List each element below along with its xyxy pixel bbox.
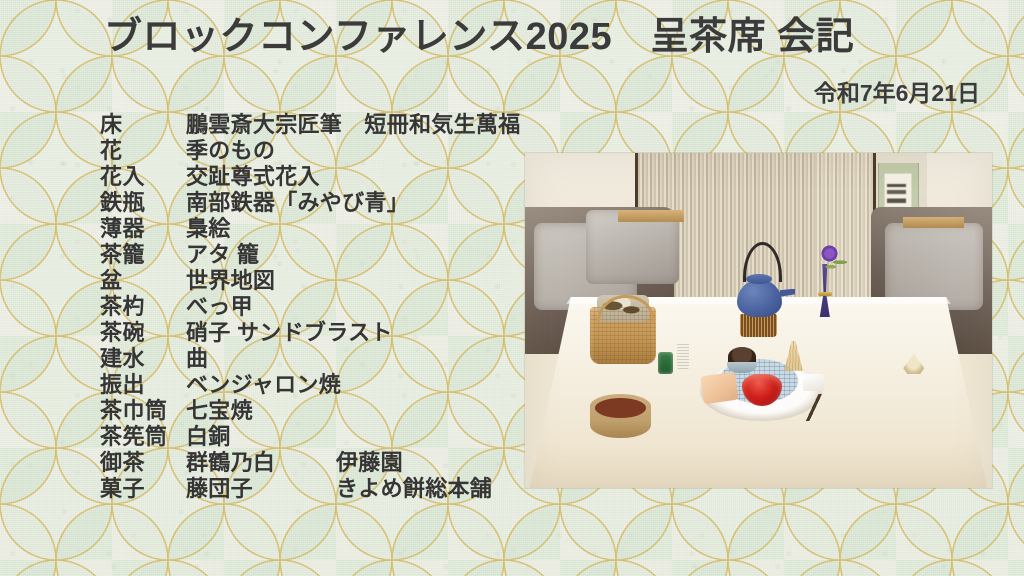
kaiki-item: ベンジャロン焼: [186, 372, 341, 398]
tea-setup-photo: [525, 153, 992, 488]
kaiki-label: 薄器: [100, 216, 186, 242]
photo-white-sweet: [803, 374, 824, 391]
kaiki-row-toko: 床 鵬雲斎大宗匠筆 短冊 和気生萬福: [100, 112, 540, 138]
kaiki-item: 白銅: [186, 424, 336, 450]
page-title: ブロックコンファレンス2025 呈茶席 会記: [104, 16, 854, 59]
photo-furidashi-container: [658, 352, 673, 374]
kaiki-item: 群鶴乃白: [186, 450, 336, 476]
photo-shelf-right: [903, 217, 964, 229]
kaiki-row-chakintsutsu: 茶巾筒 七宝焼: [100, 398, 540, 424]
kaiki-list: 床 鵬雲斎大宗匠筆 短冊 和気生萬福 花 季のもの 花入 交趾尊式花入 鉄瓶 南…: [100, 112, 540, 502]
kaiki-extra: きよめ餅総本舗: [336, 476, 492, 502]
kaiki-label: 茶筅筒: [100, 424, 186, 450]
photo-chakin-cloth: [700, 372, 739, 405]
kaiki-item: 七宝焼: [186, 398, 336, 424]
kaiki-row-chakago: 茶籠 アタ 籠: [100, 242, 540, 268]
photo-kensui-interior: [595, 398, 646, 418]
kaiki-label: 鉄瓶: [100, 190, 186, 216]
kaiki-label: 床: [100, 112, 186, 138]
photo-chashaku-scoop: [791, 394, 838, 421]
photo-purple-flower: [819, 245, 840, 262]
slide-canvas: ブロックコンファレンス2025 呈茶席 会記 令和7年6月21日 床 鵬雲斎大宗…: [0, 0, 1024, 576]
kaiki-label: 建水: [100, 346, 186, 372]
kaiki-item: 藤団子: [186, 476, 336, 502]
kaiki-label: 振出: [100, 372, 186, 398]
kaiki-label: 茶杓: [100, 294, 186, 320]
kaiki-item: 梟絵: [186, 216, 336, 242]
kaiki-item: 硝子 サンドブラスト: [186, 320, 393, 346]
kaiki-label: 御茶: [100, 450, 186, 476]
photo-iron-kettle: [737, 280, 781, 317]
kaiki-row-chawan: 茶碗 硝子 サンドブラスト: [100, 320, 540, 346]
kaiki-row-kensui: 建水 曲: [100, 346, 540, 372]
kaiki-item: アタ 籠: [186, 242, 336, 268]
kaiki-item: 南部鉄器「みやび青」: [186, 190, 409, 216]
kaiki-row-hanaire: 花入 交趾尊式花入: [100, 164, 540, 190]
kaiki-label: 茶籠: [100, 242, 186, 268]
kaiki-item: 鵬雲斎大宗匠筆 短冊: [186, 112, 409, 138]
kaiki-extra: 伊藤園: [336, 450, 403, 476]
kaiki-item: 季のもの: [186, 138, 336, 164]
kaiki-row-hana: 花 季のもの: [100, 138, 540, 164]
kaiki-item: 世界地図: [186, 268, 336, 294]
kaiki-item: 曲: [186, 346, 336, 372]
kaiki-row-tetsubin: 鉄瓶 南部鉄器「みやび青」: [100, 190, 540, 216]
kaiki-label: 盆: [100, 268, 186, 294]
kaiki-label: 花: [100, 138, 186, 164]
kaiki-label: 花入: [100, 164, 186, 190]
kaiki-row-kashi: 菓子 藤団子 きよめ餅総本舗: [100, 476, 540, 502]
photo-vase-gold-band: [818, 292, 832, 296]
date-label: 令和7年6月21日: [814, 74, 980, 108]
kaiki-row-usuki: 薄器 梟絵: [100, 216, 540, 242]
photo-shelf-left: [618, 210, 683, 222]
kaiki-row-chasentsutsu: 茶筅筒 白銅: [100, 424, 540, 450]
photo-chasen-tube: [677, 342, 689, 369]
photo-kettle-stand: [740, 314, 777, 337]
kaiki-label: 茶巾筒: [100, 398, 186, 424]
kaiki-extra: 和気生萬福: [409, 112, 521, 138]
kaiki-row-ocha: 御茶 群鶴乃白 伊藤園: [100, 450, 540, 476]
kaiki-item: 交趾尊式花入: [186, 164, 336, 190]
kaiki-row-chashaku: 茶杓 べっ甲: [100, 294, 540, 320]
kaiki-row-bon: 盆 世界地図: [100, 268, 540, 294]
kaiki-label: 菓子: [100, 476, 186, 502]
kaiki-label: 茶碗: [100, 320, 186, 346]
kaiki-item: べっ甲: [186, 294, 336, 320]
kaiki-row-furidashi: 振出 ベンジャロン焼: [100, 372, 540, 398]
